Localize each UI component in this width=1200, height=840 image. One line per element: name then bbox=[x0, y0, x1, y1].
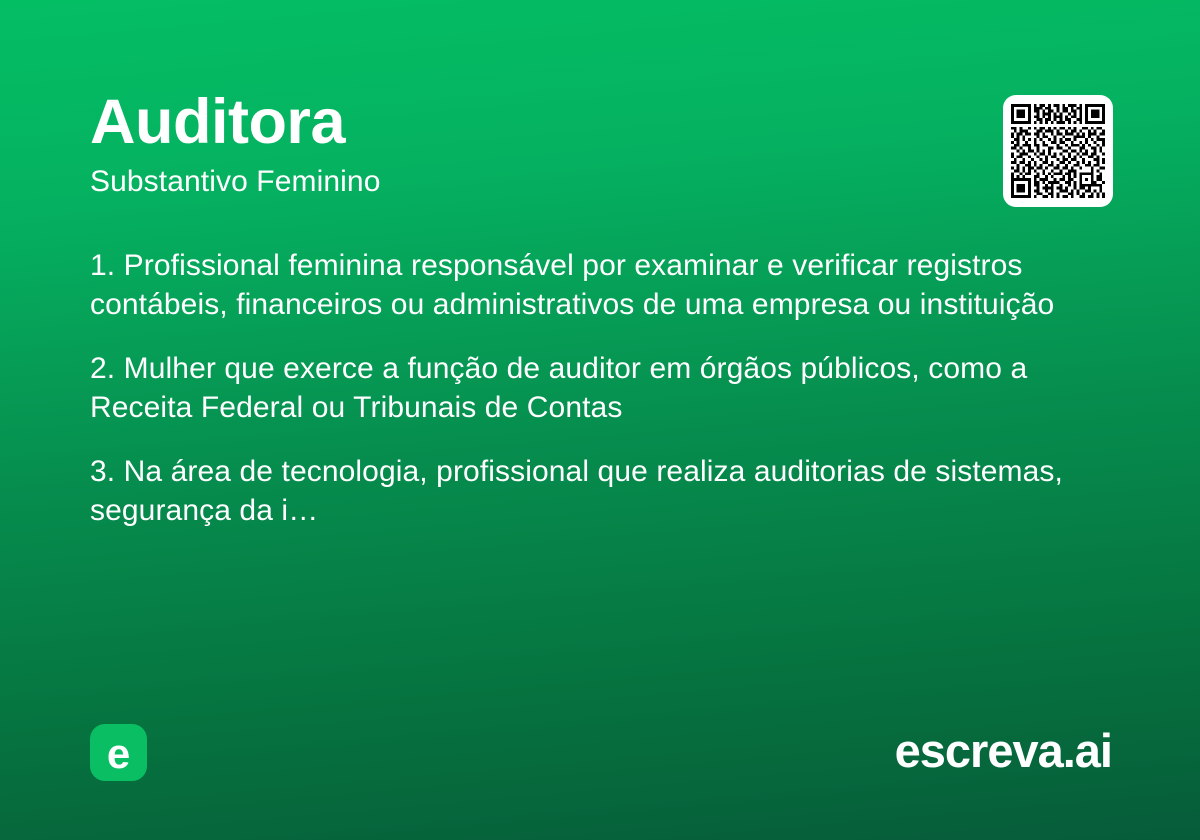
brand-logo-letter: e bbox=[90, 724, 147, 781]
brand-wordmark: escreva.ai bbox=[895, 723, 1112, 779]
definition-item-2: 2. Mulher que exerce a função de auditor… bbox=[90, 349, 1080, 427]
definition-item-3: 3. Na área de tecnologia, profissional q… bbox=[90, 452, 1080, 530]
definition-list: 1. Profissional feminina responsável por… bbox=[90, 246, 1080, 530]
definition-item-1: 1. Profissional feminina responsável por… bbox=[90, 246, 1080, 324]
brand-logo-icon: e bbox=[90, 724, 147, 781]
page-title: Auditora bbox=[90, 88, 970, 156]
card-header: Auditora Substantivo Feminino bbox=[90, 88, 970, 200]
qr-code-card[interactable] bbox=[1003, 95, 1113, 207]
definition-card: Auditora Substantivo Feminino bbox=[0, 0, 1200, 840]
word-class-label: Substantivo Feminino bbox=[90, 156, 970, 200]
qr-code-icon bbox=[1011, 103, 1105, 199]
